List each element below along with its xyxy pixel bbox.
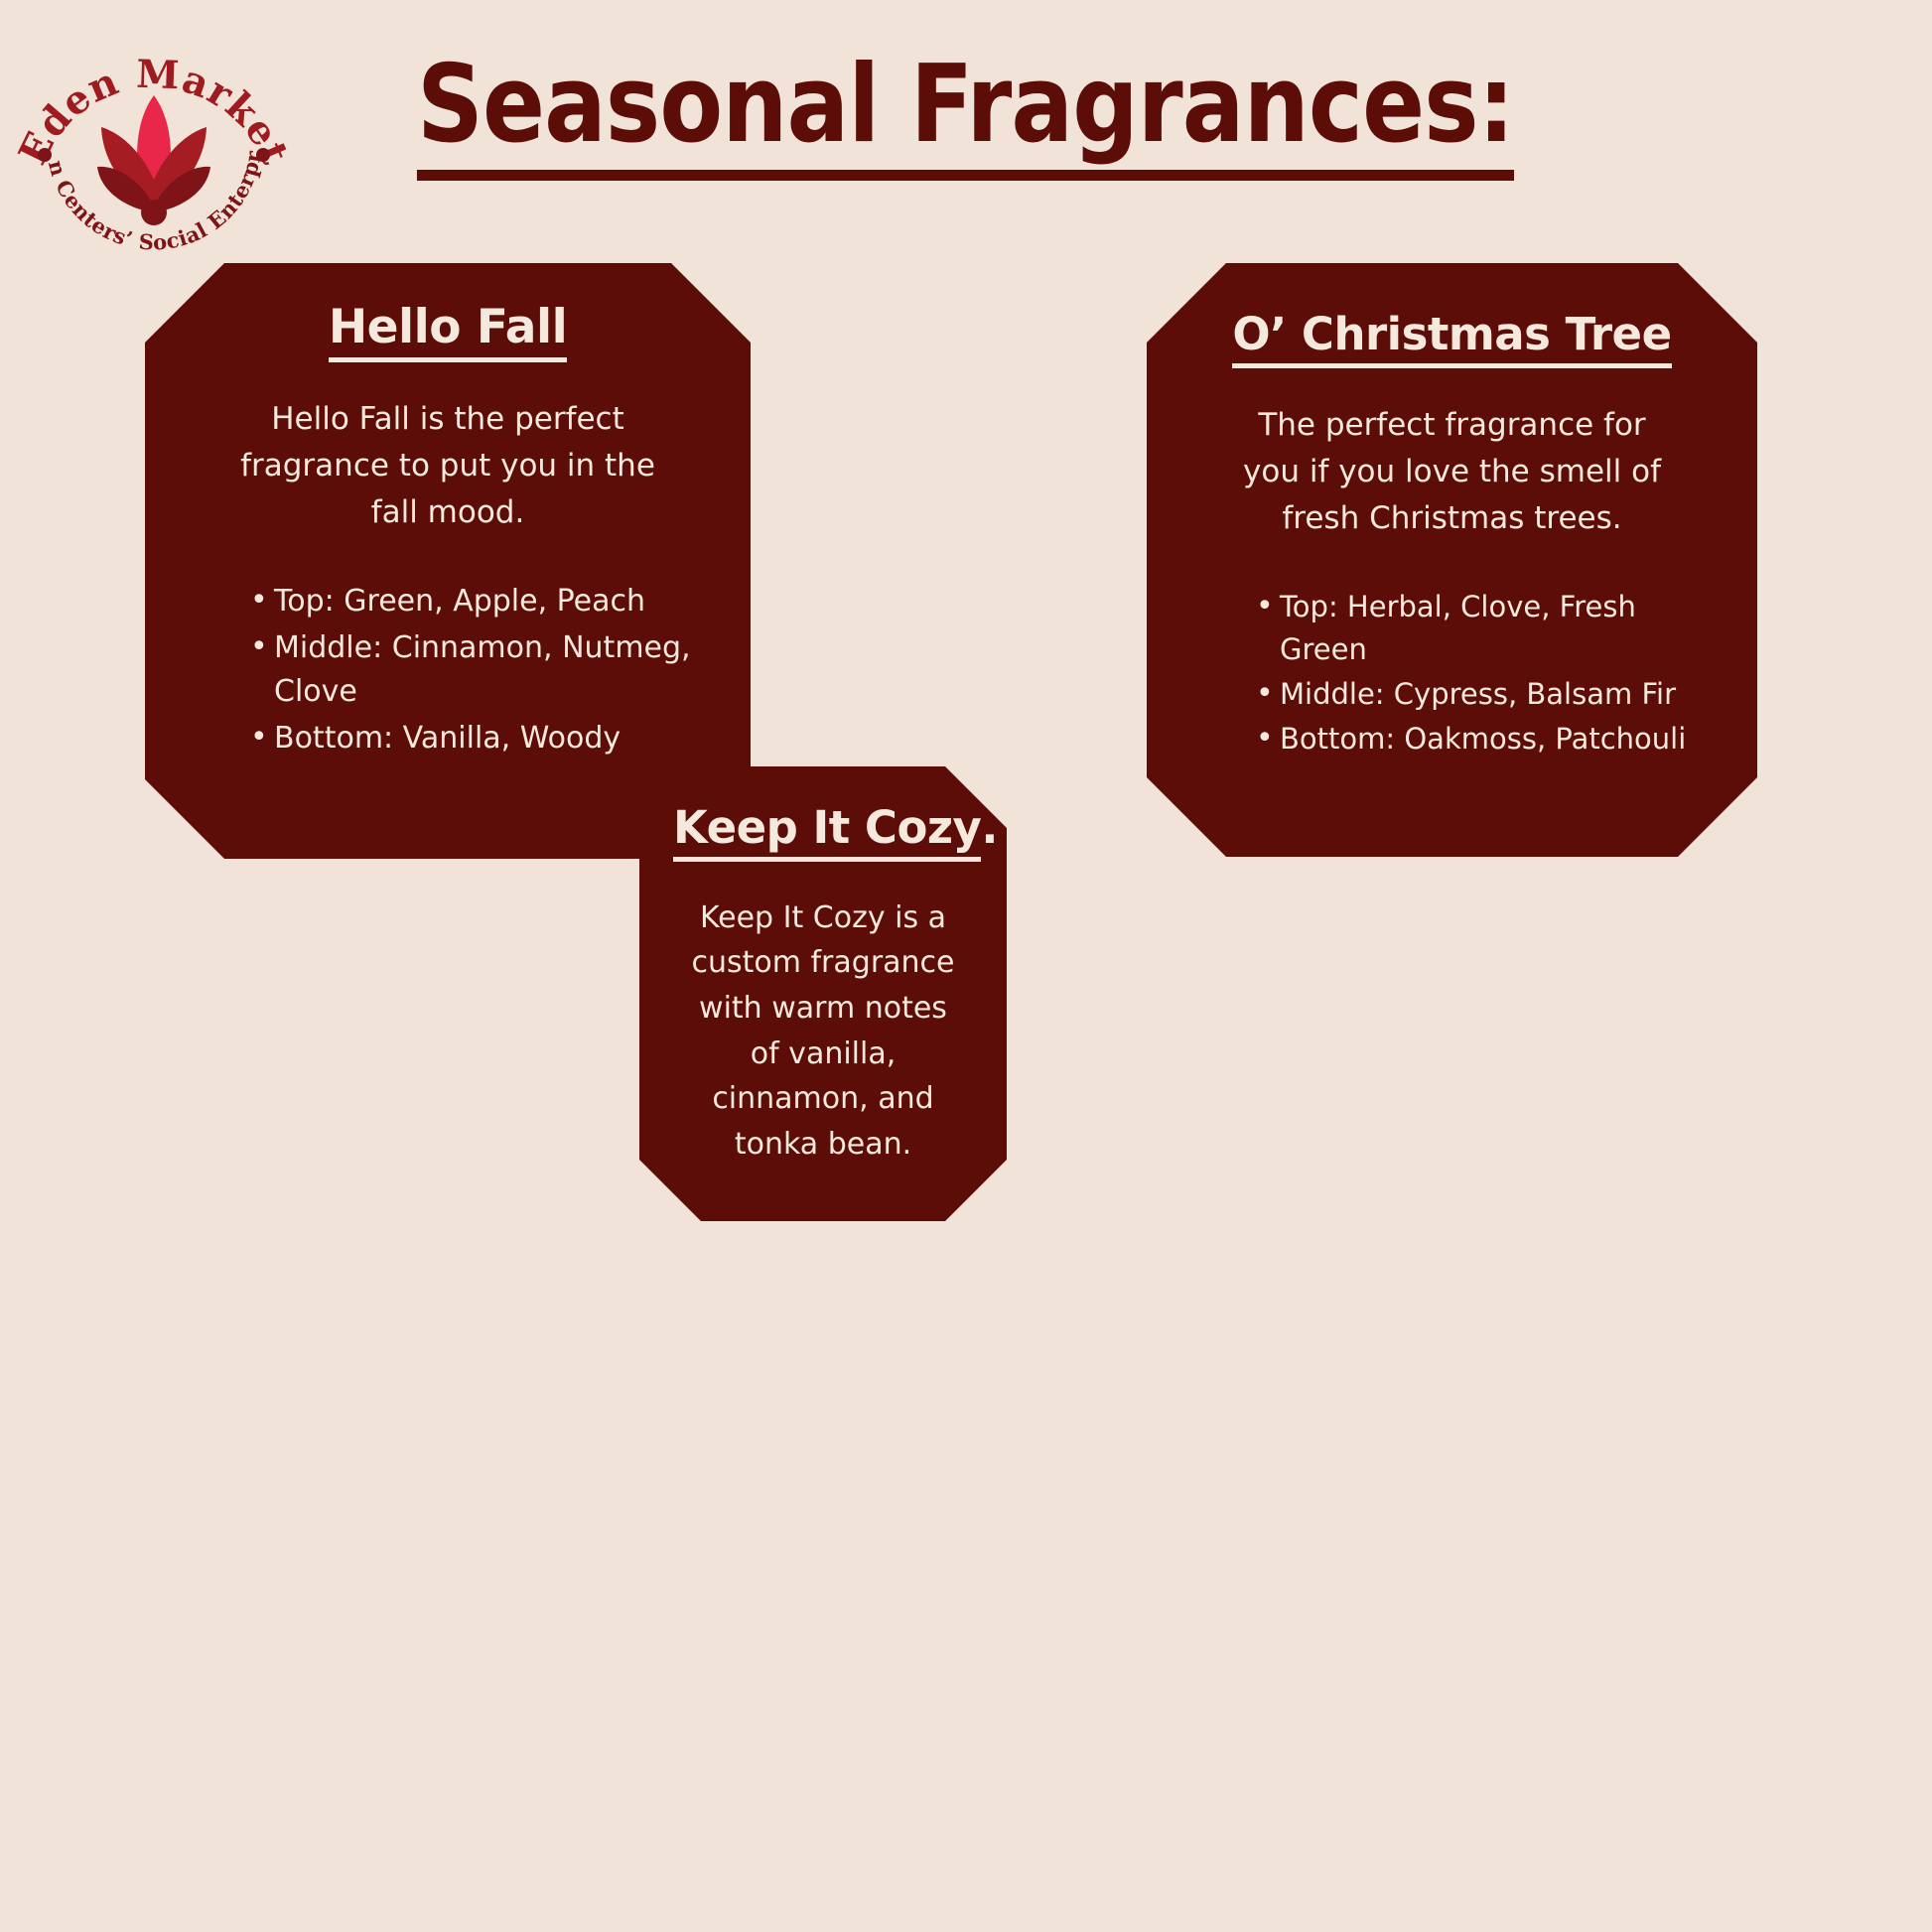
list-item: Middle: Cinnamon, Nutmeg, Clove xyxy=(248,626,699,715)
card-description-hello-fall: Hello Fall is the perfect fragrance to p… xyxy=(197,396,699,536)
fragrance-card-keep-it-cozy: Keep It Cozy. Keep It Cozy is a custom f… xyxy=(639,766,1007,1221)
card-heading-christmas-tree: O’ Christmas Tree xyxy=(1198,309,1706,368)
list-item: Bottom: Vanilla, Woody xyxy=(248,717,699,760)
fragrance-notes-hello-fall: Top: Green, Apple, Peach Middle: Cinnamo… xyxy=(197,580,699,760)
fragrance-card-christmas-tree: O’ Christmas Tree The perfect fragrance … xyxy=(1147,263,1757,857)
list-item: Bottom: Oakmoss, Patchouli xyxy=(1254,718,1706,760)
list-item: Top: Green, Apple, Peach xyxy=(248,580,699,623)
list-item: Middle: Cypress, Balsam Fir xyxy=(1254,673,1706,716)
page-title: Seasonal Fragrances: xyxy=(328,48,1569,181)
eden-market-logo: Eden Market Eden Centers’ Social Enterpr… xyxy=(10,8,298,296)
fragrance-card-hello-fall: Hello Fall Hello Fall is the perfect fra… xyxy=(145,263,751,859)
card-description-christmas-tree: The perfect fragrance for you if you lov… xyxy=(1198,402,1706,542)
logo-dot-right xyxy=(256,148,270,162)
fragrance-notes-christmas-tree: Top: Herbal, Clove, Fresh Green Middle: … xyxy=(1198,586,1706,760)
card-heading-keep-it-cozy: Keep It Cozy. xyxy=(673,802,973,862)
logo-dot-left xyxy=(38,148,52,162)
card-description-keep-it-cozy: Keep It Cozy is a custom fragrance with … xyxy=(673,896,973,1168)
logo-flower-icon xyxy=(97,95,210,225)
card-heading-suffix: . xyxy=(981,801,998,854)
page-title-text: Seasonal Fragrances: xyxy=(417,48,1514,181)
card-heading-hello-fall: Hello Fall xyxy=(197,301,699,362)
list-item: Top: Herbal, Clove, Fresh Green xyxy=(1254,586,1706,671)
